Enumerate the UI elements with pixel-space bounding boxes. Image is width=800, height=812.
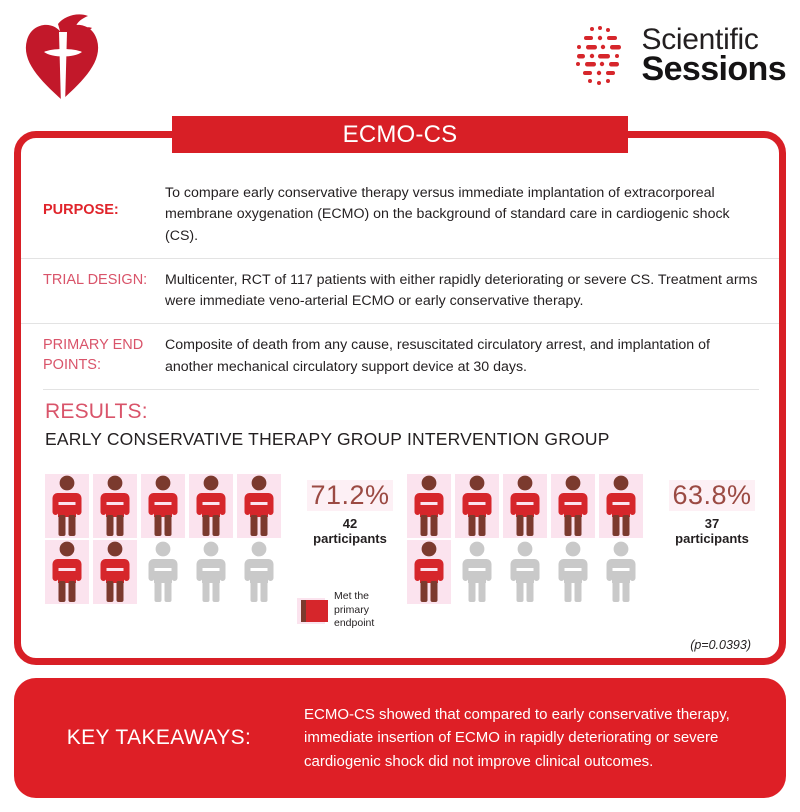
count-unit-intervention: participants [655, 531, 769, 547]
pictogram-intervention [407, 474, 643, 604]
sessions-logo-line2: Sessions [642, 54, 787, 86]
results-heading: RESULTS: [21, 390, 779, 428]
globe-icon [570, 23, 632, 89]
person-icon-not-met-endpoint [237, 540, 281, 604]
person-icon-met-endpoint [93, 474, 137, 538]
row-label-primary-end-points: PRIMARY END POINTS: [43, 335, 165, 378]
percent-intervention: 63.8% [669, 480, 754, 511]
scientific-sessions-logo: Scientific Sessions [570, 20, 787, 92]
count-early-conservative-therapy: 42 [293, 516, 407, 531]
person-icon-not-met-endpoint [141, 540, 185, 604]
page-header: Scientific Sessions [0, 0, 800, 112]
row-label-purpose: PURPOSE: [43, 183, 165, 247]
group-title-early-conservative-therapy: EARLY CONSERVATIVE THERAPY GROUP [45, 428, 407, 474]
row-purpose: PURPOSE: To compare early conservative t… [21, 172, 779, 258]
percent-early-conservative-therapy: 71.2% [307, 480, 392, 511]
american-heart-association-logo [18, 8, 106, 106]
person-icon-met-endpoint [93, 540, 137, 604]
person-icon-not-met-endpoint [455, 540, 499, 604]
person-icon-met-endpoint [551, 474, 595, 538]
chart-legend: Met the primary endpoint [297, 590, 407, 631]
person-icon-met-endpoint [407, 540, 451, 604]
results-pictogram-chart: EARLY CONSERVATIVE THERAPY GROUP 71.2% 4… [21, 428, 779, 604]
legend-label-met-endpoint: Met the primary endpoint [334, 590, 407, 631]
person-icon-met-endpoint [407, 474, 451, 538]
person-icon-not-met-endpoint [503, 540, 547, 604]
p-value-annotation: (p=0.0393) [690, 638, 751, 652]
group-intervention: INTERVENTION GROUP 63.8% 37 participants [407, 428, 769, 604]
trial-info-rows: PURPOSE: To compare early conservative t… [21, 172, 779, 604]
legend-swatch-met-endpoint [297, 598, 325, 624]
group-title-intervention: INTERVENTION GROUP [407, 428, 769, 474]
row-body-trial-design: Multicenter, RCT of 117 patients with ei… [165, 270, 759, 313]
stats-intervention: 63.8% 37 participants [643, 474, 769, 547]
person-icon-not-met-endpoint [599, 540, 643, 604]
stats-early-conservative-therapy: 71.2% 42 participants [281, 474, 407, 547]
trial-summary-card: ECMO-CS PURPOSE: To compare early conser… [14, 131, 786, 665]
row-body-primary-end-points: Composite of death from any cause, resus… [165, 335, 759, 378]
row-trial-design: TRIAL DESIGN: Multicenter, RCT of 117 pa… [21, 258, 779, 324]
row-body-purpose: To compare early conservative therapy ve… [165, 183, 759, 247]
person-icon-met-endpoint [237, 474, 281, 538]
legend-line-1: Met the [334, 590, 407, 604]
person-icon-met-endpoint [599, 474, 643, 538]
pictogram-early-conservative-therapy [45, 474, 281, 604]
group-early-conservative-therapy: EARLY CONSERVATIVE THERAPY GROUP 71.2% 4… [45, 428, 407, 604]
count-intervention: 37 [655, 516, 769, 531]
person-icon-not-met-endpoint [551, 540, 595, 604]
key-takeaways-text: ECMO-CS showed that compared to early co… [304, 703, 786, 773]
key-takeaways-label: KEY TAKEAWAYS: [14, 726, 304, 750]
person-icon-met-endpoint [189, 474, 233, 538]
key-takeaways-panel: KEY TAKEAWAYS: ECMO-CS showed that compa… [14, 678, 786, 798]
trial-title-banner: ECMO-CS [172, 116, 628, 153]
person-icon-met-endpoint [45, 540, 89, 604]
person-icon-met-endpoint [455, 474, 499, 538]
legend-line-2: primary endpoint [334, 604, 407, 631]
person-icon-met-endpoint [503, 474, 547, 538]
row-primary-end-points: PRIMARY END POINTS: Composite of death f… [21, 323, 779, 389]
row-label-trial-design: TRIAL DESIGN: [43, 270, 165, 313]
count-unit-early-conservative-therapy: participants [293, 531, 407, 547]
person-icon-not-met-endpoint [189, 540, 233, 604]
person-icon-met-endpoint [45, 474, 89, 538]
person-icon-met-endpoint [141, 474, 185, 538]
